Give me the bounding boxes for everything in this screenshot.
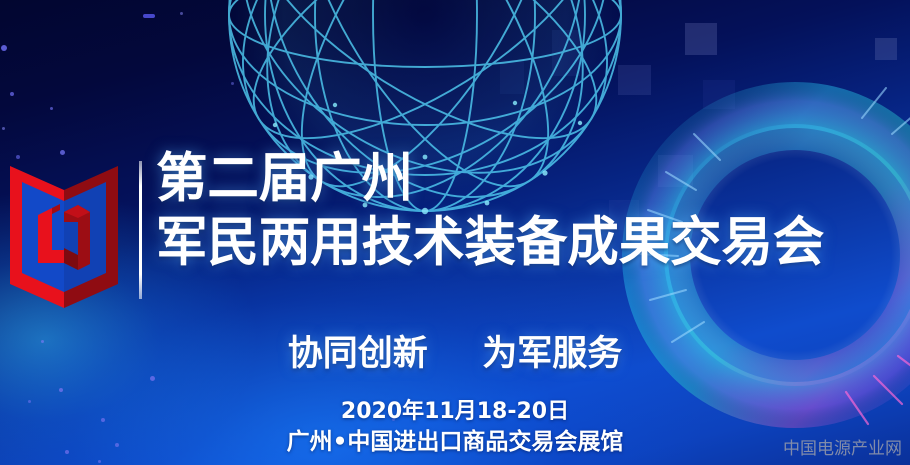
event-venue: 广州•中国进出口商品交易会展馆 xyxy=(0,428,910,457)
junmin-shield-logo xyxy=(8,160,120,308)
headline-block: 第二届广州 军民两用技术装备成果交易会 xyxy=(156,152,845,269)
event-date: 2020年11月18-20日 xyxy=(0,398,910,426)
subtitle-block: 协同创新 为军服务 xyxy=(0,325,910,376)
event-banner: 第二届广州 军民两用技术装备成果交易会 协同创新 为军服务 2020年11月18… xyxy=(0,0,910,465)
headline-line-2: 军民两用技术装备成果交易会 xyxy=(156,216,824,269)
subtitle-right: 为军服务 xyxy=(482,334,622,374)
event-info-block: 2020年11月18-20日 广州•中国进出口商品交易会展馆 xyxy=(0,398,910,456)
headline-line-1: 第二届广州 xyxy=(156,152,824,205)
headline-divider xyxy=(139,161,142,299)
site-watermark: 中国电源产业网 xyxy=(783,434,902,459)
subtitle-left: 协同创新 xyxy=(288,334,428,374)
